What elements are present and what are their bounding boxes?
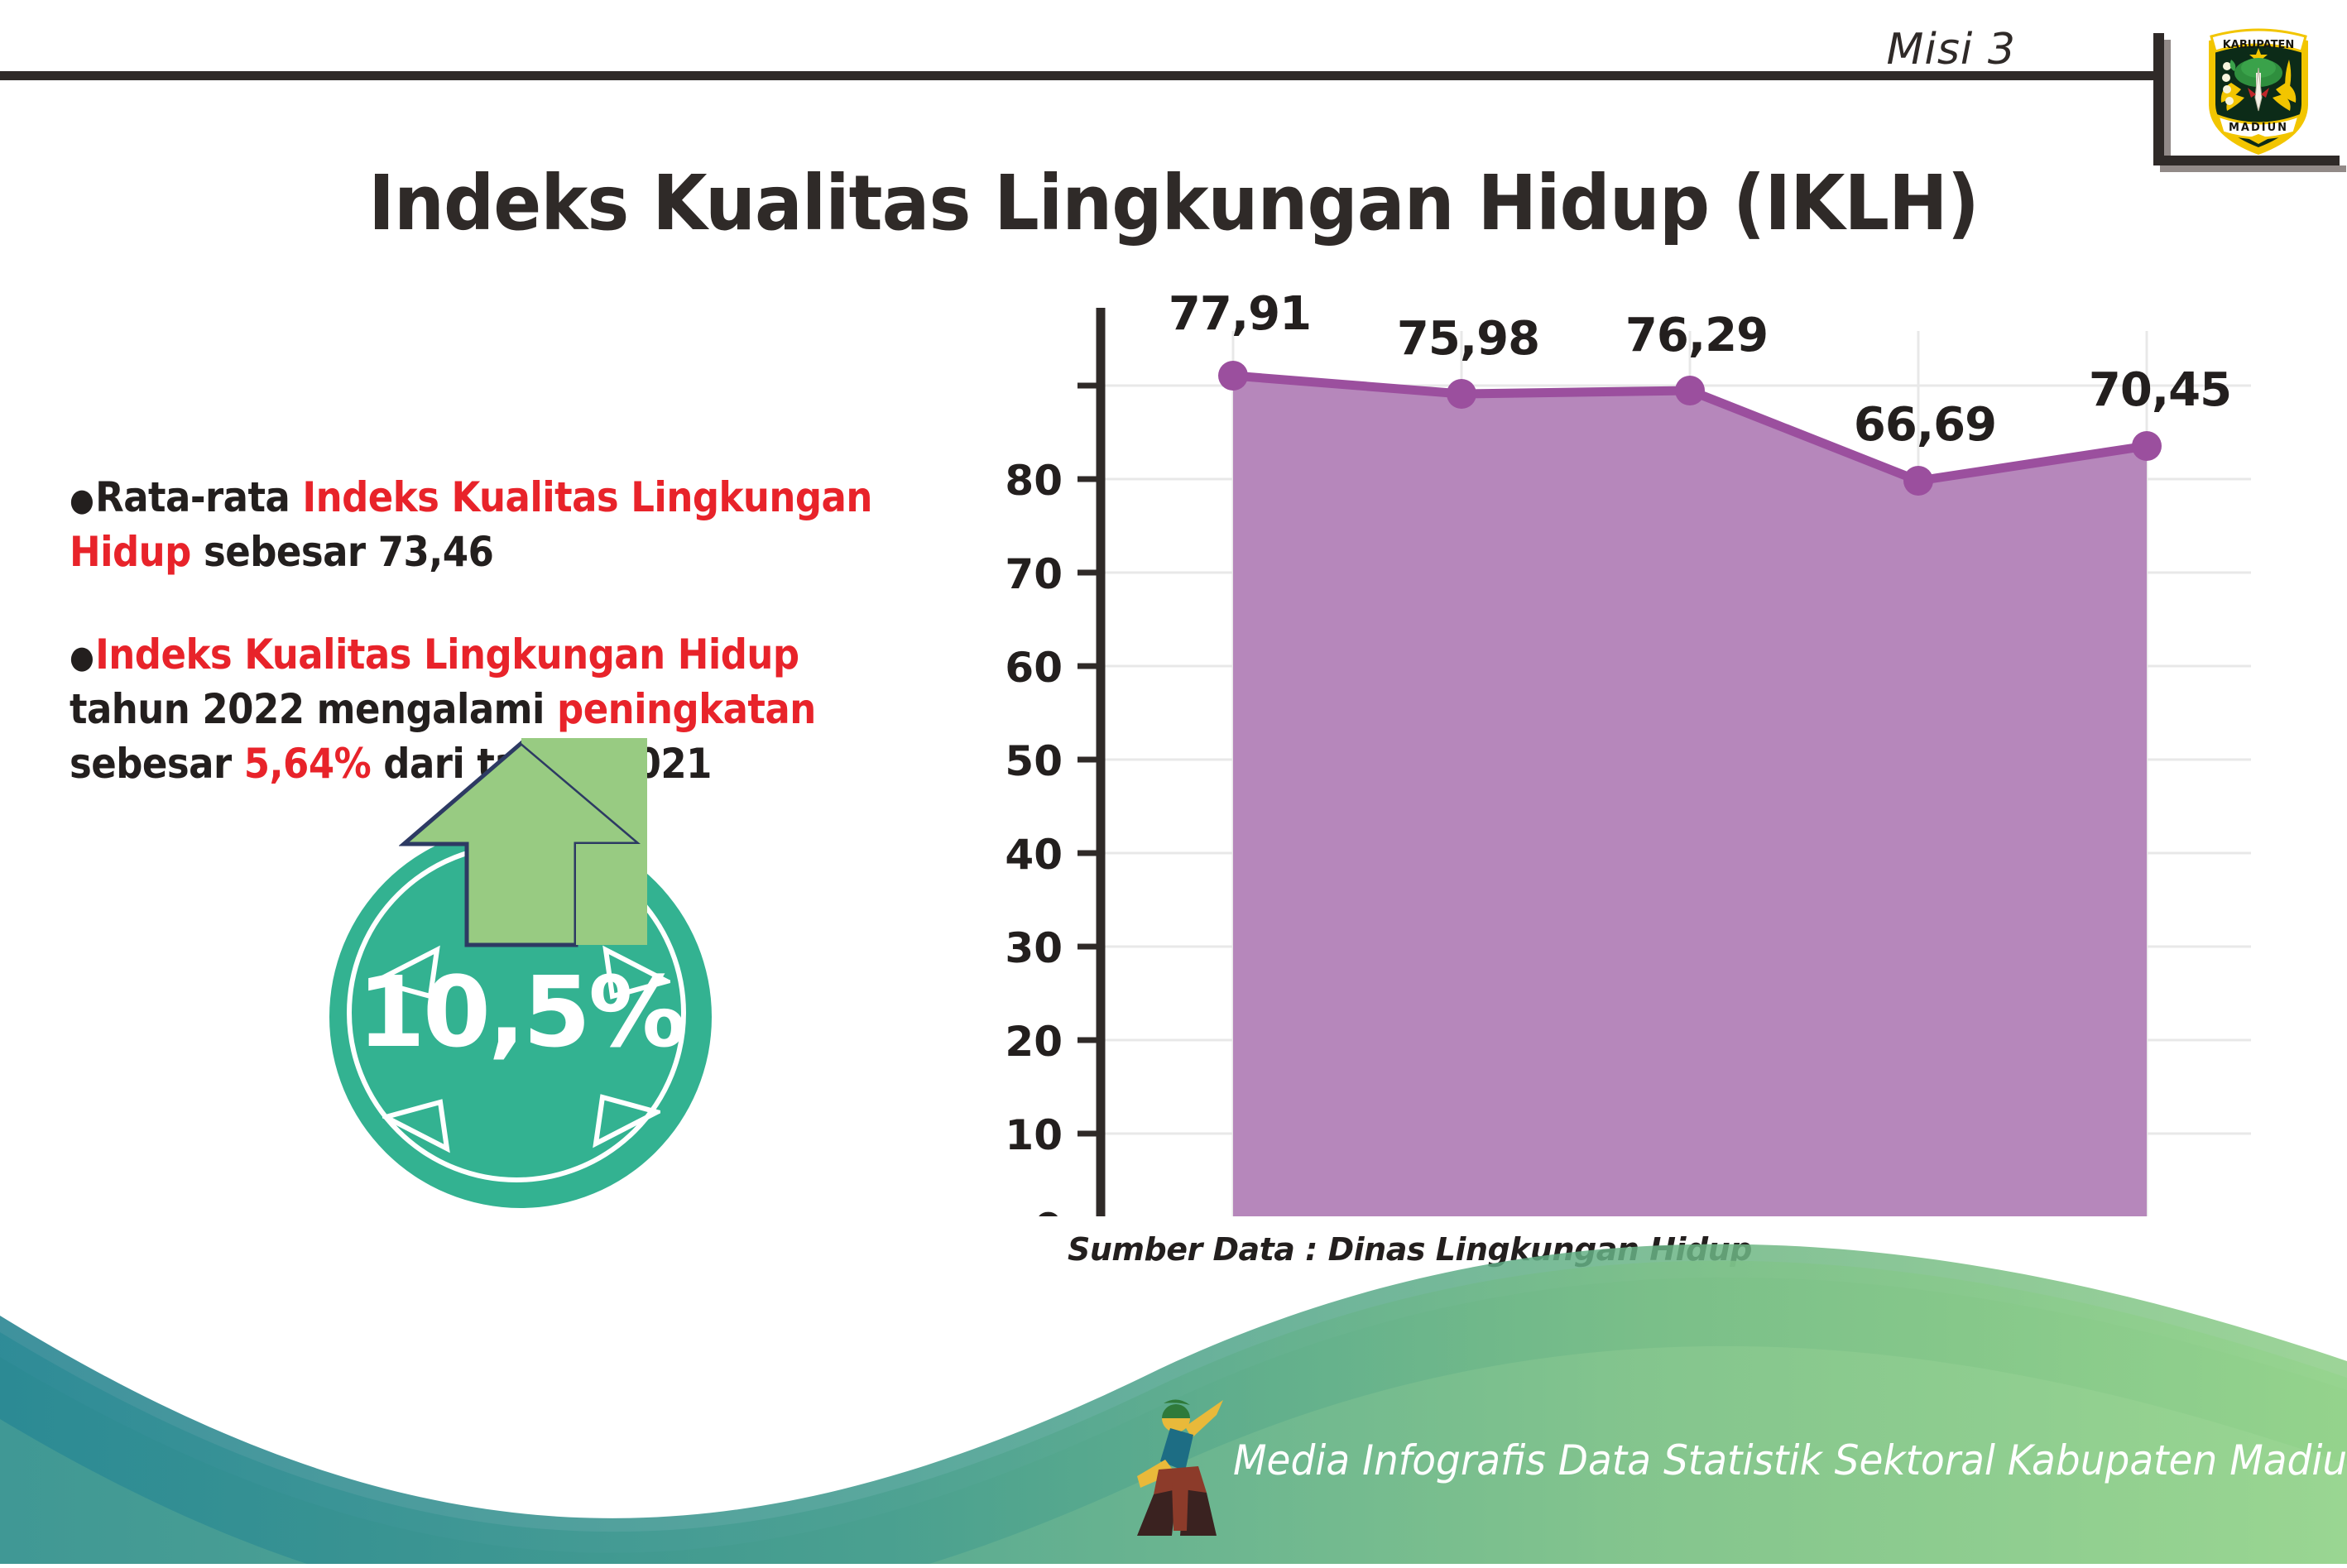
data-label: 77,91 (1169, 290, 1311, 341)
y-tick-label: 60 (1005, 644, 1063, 692)
y-tick-label: 50 (1005, 737, 1063, 785)
up-arrow-icon (399, 738, 647, 953)
y-tick-label: 20 (1005, 1018, 1063, 1066)
bullet-dot-icon: ● (70, 482, 94, 518)
kabupaten-madiun-emblem-icon: KABUPATEN MADIUN (2201, 18, 2316, 157)
bullet-0-part-0: Rata-rata (95, 473, 302, 521)
svg-text:MADIUN: MADIUN (2229, 122, 2288, 134)
data-label: 76,29 (1625, 309, 1768, 362)
y-tick-label: 10 (1005, 1111, 1063, 1159)
header-divider-rule (0, 71, 2160, 80)
bullet-1-part-1: tahun 2022 mengalami (70, 685, 557, 733)
data-label: 75,98 (1397, 312, 1539, 366)
data-label: 66,69 (1854, 398, 1996, 452)
bullet-1-part-3: sebesar (70, 740, 244, 788)
bullet-0-part-2: sebesar 73,46 (191, 528, 493, 576)
bullet-dot-icon: ● (70, 639, 94, 675)
data-label: 70,45 (2089, 363, 2231, 417)
badge-triangle-bottom-right-icon (589, 1084, 660, 1148)
bullet-1-part-0: Indeks Kualitas Lingkungan Hidup (95, 631, 799, 679)
page-title: Indeks Kualitas Lingkungan Hidup (IKLH) (82, 159, 2264, 247)
y-tick-label: 30 (1005, 924, 1063, 972)
footer-caption: Media Infografis Data Statistik Sektoral… (1233, 1436, 2347, 1484)
list-item: ●Rata-rata Indeks Kualitas Lingkungan Hi… (70, 470, 889, 579)
y-tick-label: 40 (1005, 831, 1063, 879)
bullet-1-part-2: peningkatan (557, 685, 816, 733)
misi-label: Misi 3 (1887, 25, 2016, 74)
badge-triangle-bottom-left-icon (382, 1089, 454, 1153)
y-tick-label: 0 (1034, 1205, 1063, 1216)
increase-badge: 10,5% (311, 738, 733, 1210)
y-tick-label: 80 (1005, 457, 1063, 505)
iklh-area-chart: 0 10 20 30 40 50 60 70 80 2018 2019 2020… (977, 290, 2268, 1216)
chart-area-fill (1233, 376, 2147, 1216)
media-infografis-dancer-logo-icon (1137, 1390, 1230, 1539)
y-tick-label: 70 (1005, 550, 1063, 598)
badge-percent-label: 10,5% (329, 955, 712, 1069)
chart-y-tick-labels: 0 10 20 30 40 50 60 70 80 (1005, 457, 1063, 1216)
